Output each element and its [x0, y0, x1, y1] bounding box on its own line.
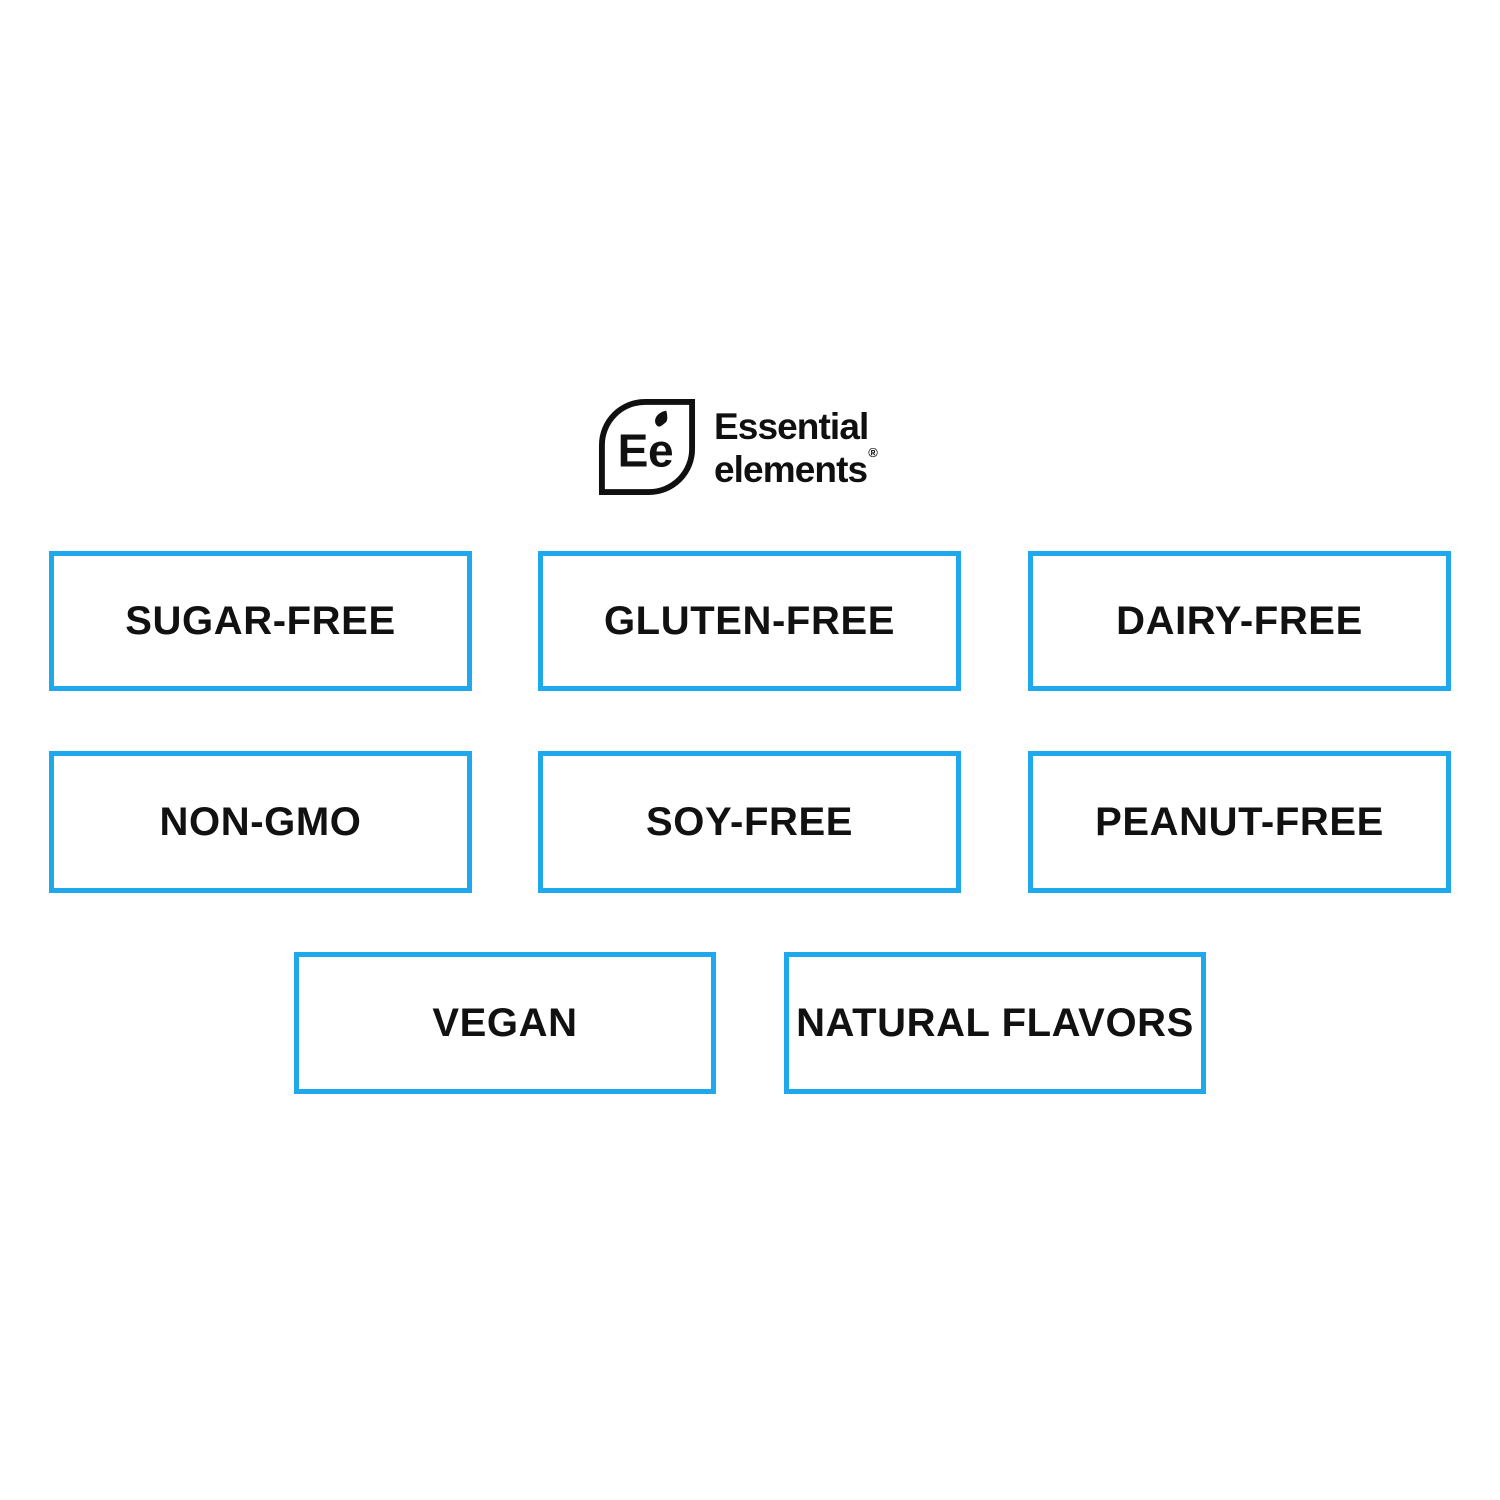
svg-text:E: E: [618, 425, 649, 477]
svg-text:e: e: [648, 425, 674, 477]
registered-trademark-symbol: ®: [868, 445, 878, 460]
badge-label: VEGAN: [432, 1003, 577, 1043]
badge-label: NON-GMO: [160, 802, 362, 842]
product-attribute-badge-panel: E e Essential elements® SUGAR-FREE GLUTE…: [0, 0, 1500, 1500]
badge-label: PEANUT-FREE: [1095, 802, 1384, 842]
brand-lockup: E e Essential elements®: [598, 398, 877, 496]
badge-label: NATURAL FLAVORS: [796, 1003, 1194, 1043]
badge-gluten-free[interactable]: GLUTEN-FREE: [538, 551, 961, 691]
badge-label: GLUTEN-FREE: [604, 601, 895, 641]
badge-label: SOY-FREE: [646, 802, 853, 842]
badge-dairy-free[interactable]: DAIRY-FREE: [1028, 551, 1451, 691]
brand-wordmark: Essential elements®: [714, 406, 877, 488]
badge-natural-flavors[interactable]: NATURAL FLAVORS: [784, 952, 1206, 1094]
brand-name-line-1: Essential: [714, 408, 877, 445]
badge-non-gmo[interactable]: NON-GMO: [49, 751, 472, 893]
badge-label: DAIRY-FREE: [1116, 601, 1363, 641]
badge-label: SUGAR-FREE: [125, 601, 395, 641]
brand-name-line-2: elements: [714, 449, 867, 490]
leaf-monogram-icon: E e: [598, 398, 696, 496]
badge-peanut-free[interactable]: PEANUT-FREE: [1028, 751, 1451, 893]
badge-soy-free[interactable]: SOY-FREE: [538, 751, 961, 893]
badge-vegan[interactable]: VEGAN: [294, 952, 716, 1094]
badge-sugar-free[interactable]: SUGAR-FREE: [49, 551, 472, 691]
